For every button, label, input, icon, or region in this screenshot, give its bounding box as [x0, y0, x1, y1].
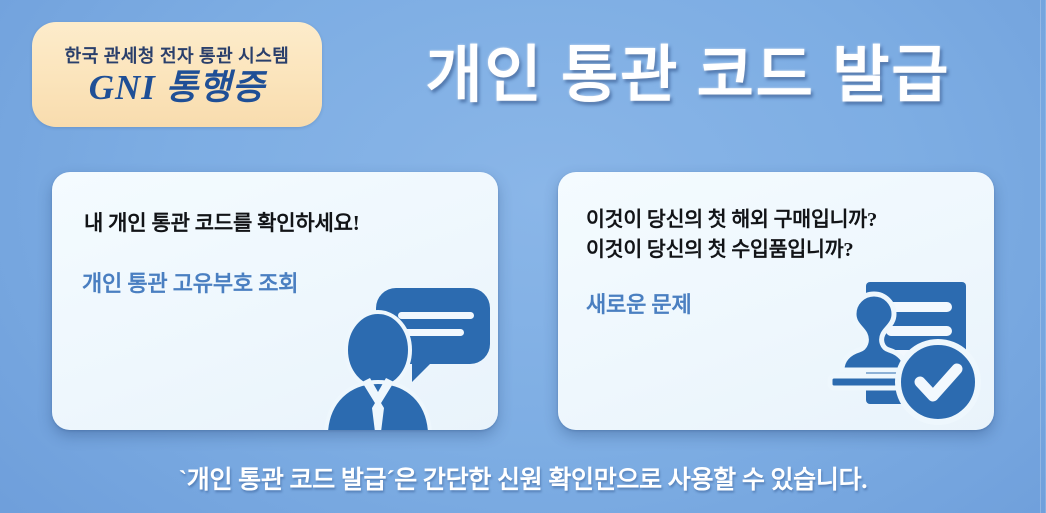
poster-canvas: 한국 관세청 전자 통관 시스템 GNI 통행증 개인 통관 코드 발급 내 개… [0, 0, 1046, 513]
card-personal-code-lookup[interactable]: 내 개인 통관 코드를 확인하세요! 개인 통관 고유부호 조회 [52, 172, 498, 430]
gni-badge: 한국 관세청 전자 통관 시스템 GNI 통행증 [32, 22, 322, 127]
card-link-personal-code-lookup[interactable]: 개인 통관 고유부호 조회 [82, 266, 298, 298]
footer-caption: `개인 통관 코드 발급´은 간단한 신원 확인만으로 사용할 수 있습니다. [0, 460, 1046, 496]
card-heading-line-2: 이것이 당신의 첫 수입품입니까? [586, 236, 970, 266]
card-heading: 이것이 당신의 첫 해외 구매입니까? 이것이 당신의 첫 수입품입니까? [586, 206, 970, 265]
poster-header: 한국 관세청 전자 통관 시스템 GNI 통행증 개인 통관 코드 발급 [0, 0, 1046, 148]
document-stamp-check-icon [810, 278, 988, 428]
card-heading-line-1: 이것이 당신의 첫 해외 구매입니까? [586, 209, 877, 231]
card-new-issue[interactable]: 이것이 당신의 첫 해외 구매입니까? 이것이 당신의 첫 수입품입니까? 새로… [558, 172, 994, 430]
page-title: 개인 통관 코드 발급 [352, 24, 1024, 114]
person-speech-bubble-icon [318, 282, 494, 430]
card-link-new-issue[interactable]: 새로운 문제 [586, 287, 692, 319]
badge-subtitle: 한국 관세청 전자 통관 시스템 [65, 42, 290, 68]
badge-title: GNI 통행증 [89, 70, 266, 107]
card-heading: 내 개인 통관 코드를 확인하세요! [84, 208, 474, 238]
card-heading-line-1: 내 개인 통관 코드를 확인하세요! [84, 211, 360, 235]
